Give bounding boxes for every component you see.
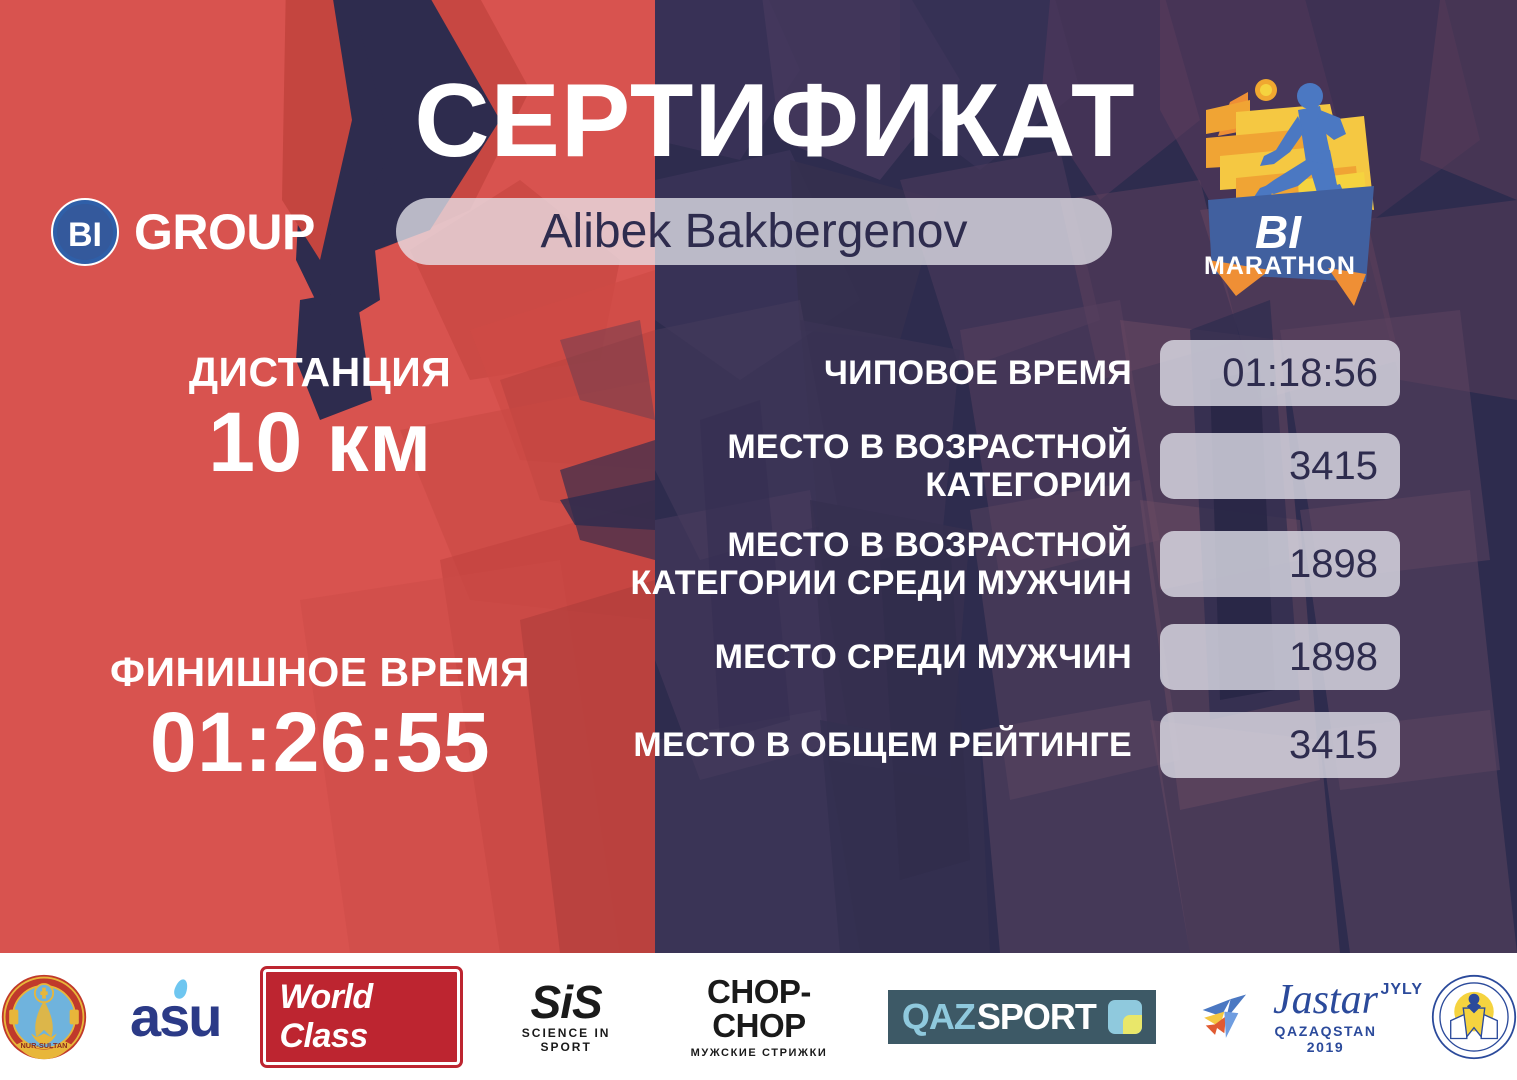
sis-wordmark: SiS: [502, 980, 630, 1024]
distance-label: ДИСТАНЦИЯ: [85, 348, 555, 396]
chop-chop-tagline: МУЖСКИЕ СТРИЖКИ: [672, 1047, 846, 1059]
bi-group-logo: BI GROUP: [50, 197, 315, 267]
nur-sultan-caption: NUR-SULTAN: [21, 1041, 68, 1050]
marathon-logo-line2: MARATHON: [1204, 252, 1356, 280]
finish-time-value: 01:26:55: [85, 696, 555, 788]
sponsor-ministry: [1431, 971, 1517, 1063]
stat-label: МЕСТО В ВОЗРАСТНОЙ КАТЕГОРИИ: [630, 428, 1160, 504]
stat-value: 01:18:56: [1160, 340, 1400, 406]
finish-time-label: ФИНИШНОЕ ВРЕМЯ: [85, 648, 555, 696]
jastar-tagline: QAZAQSTAN 2019: [1262, 1023, 1389, 1055]
page-title: СЕРТИФИКАТ: [380, 62, 1170, 180]
distance-value: 10 км: [85, 396, 555, 488]
distance-block: ДИСТАНЦИЯ 10 км: [85, 348, 555, 488]
stat-row: МЕСТО В ОБЩЕМ РЕЙТИНГЕ 3415: [630, 712, 1400, 778]
jastar-arrow-icon: [1198, 986, 1252, 1048]
stat-label: МЕСТО В ВОЗРАСТНОЙ КАТЕГОРИИ СРЕДИ МУЖЧИ…: [630, 526, 1160, 602]
sponsor-nur-sultan: NUR-SULTAN: [0, 971, 88, 1063]
qazsport-part1: QAZ: [902, 999, 975, 1035]
finish-time-block: ФИНИШНОЕ ВРЕМЯ 01:26:55: [85, 648, 555, 788]
stat-row: МЕСТО В ВОЗРАСТНОЙ КАТЕГОРИИ 3415: [630, 428, 1400, 504]
stat-row: ЧИПОВОЕ ВРЕМЯ 01:18:56: [630, 340, 1400, 406]
stat-label: ЧИПОВОЕ ВРЕМЯ: [630, 354, 1160, 392]
sponsor-sis: SiS SCIENCE IN SPORT: [502, 971, 630, 1063]
stat-value: 1898: [1160, 624, 1400, 690]
nur-sultan-emblem-icon: NUR-SULTAN: [0, 973, 88, 1061]
svg-text:BI: BI: [68, 216, 102, 254]
sponsor-world-class: World Class: [263, 971, 461, 1063]
sponsor-asu: asu: [130, 971, 221, 1063]
stat-row: МЕСТО СРЕДИ МУЖЧИН 1898: [630, 624, 1400, 690]
bi-marathon-logo: BI MARATHON: [1178, 60, 1398, 310]
asu-wordmark: asu: [130, 989, 221, 1045]
stat-value: 1898: [1160, 531, 1400, 597]
stat-label: МЕСТО В ОБЩЕМ РЕЙТИНГЕ: [630, 726, 1160, 764]
qazsport-part2: SPORT: [977, 999, 1096, 1035]
bi-group-wordmark: GROUP: [134, 197, 315, 267]
participant-name: Alibek Bakbergenov: [541, 198, 968, 265]
stat-row: МЕСТО В ВОЗРАСТНОЙ КАТЕГОРИИ СРЕДИ МУЖЧИ…: [630, 526, 1400, 602]
participant-nameplate: Alibek Bakbergenov: [396, 198, 1112, 265]
sponsor-bar: NUR-SULTAN asu World Class SiS SCIENCE I…: [0, 953, 1517, 1080]
jastar-wordmark: Jastar: [1262, 979, 1389, 1021]
sponsor-chop-chop: CHOP-CHOP МУЖСКИЕ СТРИЖКИ: [672, 971, 846, 1063]
stat-value: 3415: [1160, 712, 1400, 778]
ministry-emblem-icon: [1431, 974, 1517, 1060]
stats-list: ЧИПОВОЕ ВРЕМЯ 01:18:56 МЕСТО В ВОЗРАСТНО…: [630, 340, 1400, 800]
sponsor-jastar: Jastar JYLY QAZAQSTAN 2019: [1198, 971, 1389, 1063]
certificate-root: СЕРТИФИКАТ BI GROUP Alibek Bakbergenov: [0, 0, 1517, 1080]
stat-label: МЕСТО СРЕДИ МУЖЧИН: [630, 638, 1160, 676]
marathon-logo-line1: BI: [1255, 206, 1302, 258]
stat-value: 3415: [1160, 433, 1400, 499]
jastar-superscript: JYLY: [1380, 981, 1423, 999]
chop-chop-wordmark: CHOP-CHOP: [672, 975, 846, 1043]
world-class-wordmark: World Class: [263, 969, 461, 1065]
qazsport-tile-icon: [1108, 1000, 1142, 1034]
bi-badge-icon: BI: [50, 197, 120, 267]
sponsor-qazsport: QAZ SPORT: [888, 971, 1156, 1063]
sis-tagline: SCIENCE IN SPORT: [502, 1026, 630, 1054]
